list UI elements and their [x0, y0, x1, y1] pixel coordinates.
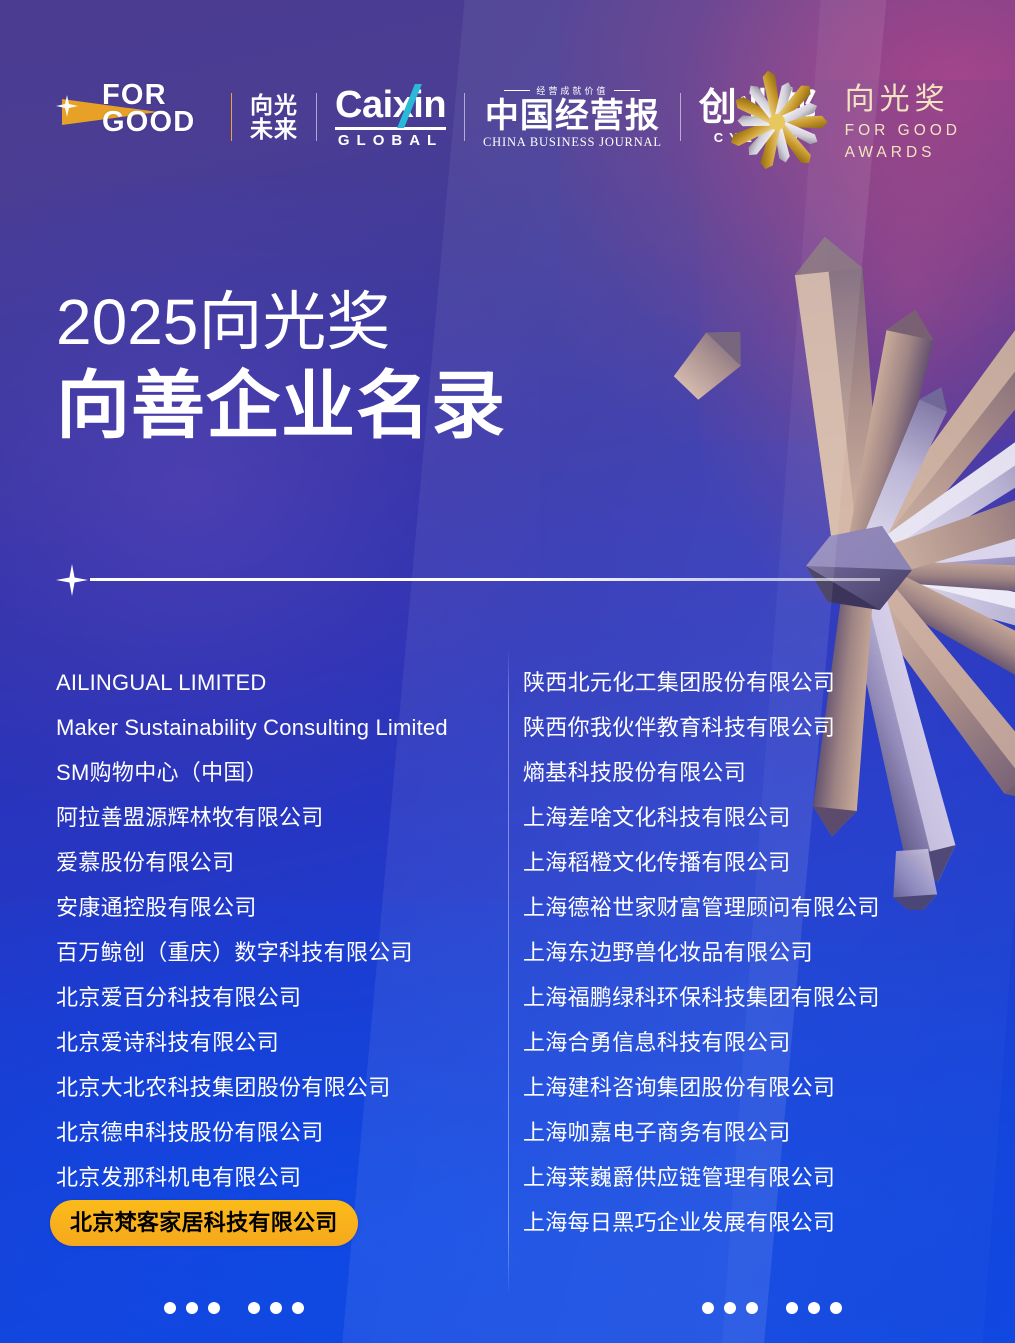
list-item[interactable]: SM购物中心（中国） — [56, 750, 507, 795]
dot-icon — [248, 1302, 260, 1314]
list-item[interactable]: Maker Sustainability Consulting Limited — [56, 705, 507, 750]
list-item[interactable]: 北京爱百分科技有限公司 — [56, 975, 507, 1020]
for-good-line1: FOR — [102, 82, 213, 109]
list-item[interactable]: 百万鲸创（重庆）数字科技有限公司 — [56, 930, 507, 975]
dot-icon — [292, 1302, 304, 1314]
dot-icon — [808, 1302, 820, 1314]
company-name: 上海差啥文化科技有限公司 — [523, 795, 791, 840]
company-name: 上海合勇信息科技有限公司 — [523, 1020, 791, 1065]
company-name: 上海稻橙文化传播有限公司 — [523, 840, 791, 885]
for-good-line2: GOOD — [102, 109, 213, 136]
award-mark: 向光奖 FOR GOOD AWARDS — [723, 68, 961, 176]
cbj-subtitle: CHINA BUSINESS JOURNAL — [483, 135, 662, 150]
company-name: 百万鲸创（重庆）数字科技有限公司 — [56, 930, 413, 975]
company-name: 爱慕股份有限公司 — [56, 840, 234, 885]
award-mark-text: 向光奖 FOR GOOD AWARDS — [845, 83, 961, 162]
list-item[interactable]: 上海东边野兽化妆品有限公司 — [523, 930, 1014, 975]
list-item[interactable]: 北京爱诗科技有限公司 — [56, 1020, 507, 1065]
award-mark-en-line1: FOR GOOD — [845, 122, 961, 140]
cbj-dash-right — [614, 90, 640, 91]
for-good-wordmark: FOR GOOD — [58, 79, 213, 135]
list-item[interactable]: 上海咖嘉电子商务有限公司 — [523, 1110, 1014, 1155]
logo-china-business-journal: 经营成就价值 中国经营报 CHINA BUSINESS JOURNAL — [483, 84, 662, 150]
caixin-text: Caixin — [335, 84, 446, 126]
dot-icon — [270, 1302, 282, 1314]
company-name: 安康通控股有限公司 — [56, 885, 257, 930]
company-lists: AILINGUAL LIMITEDMaker Sustainability Co… — [0, 660, 1015, 1245]
company-name: 上海每日黑巧企业发展有限公司 — [523, 1200, 835, 1245]
dot-icon — [164, 1302, 176, 1314]
page-title-line2: 向善企业名录 — [56, 365, 506, 446]
logo-separator-3 — [680, 93, 681, 141]
list-item[interactable]: 北京德申科技股份有限公司 — [56, 1110, 507, 1155]
company-name-highlighted: 北京梵客家居科技有限公司 — [50, 1200, 358, 1246]
company-name: 陕西你我伙伴教育科技有限公司 — [523, 705, 835, 750]
list-item[interactable]: 陕西你我伙伴教育科技有限公司 — [523, 705, 1014, 750]
company-list-right: 陕西北元化工集团股份有限公司陕西你我伙伴教育科技有限公司熵基科技股份有限公司上海… — [507, 660, 1014, 1245]
company-name: 熵基科技股份有限公司 — [523, 750, 746, 795]
company-name: 阿拉善盟源辉林牧有限公司 — [56, 795, 324, 840]
logo-for-good: FOR GOOD — [58, 79, 213, 155]
list-item[interactable]: 上海稻橙文化传播有限公司 — [523, 840, 1014, 885]
list-item[interactable]: 阿拉善盟源辉林牧有限公司 — [56, 795, 507, 840]
company-name: 上海建科咨询集团股份有限公司 — [523, 1065, 835, 1110]
list-item[interactable]: 上海建科咨询集团股份有限公司 — [523, 1065, 1014, 1110]
xiangguang-line2: 未来 — [250, 117, 298, 141]
list-item[interactable]: 熵基科技股份有限公司 — [523, 750, 1014, 795]
dot-group — [702, 1302, 758, 1314]
logo-separator-2 — [464, 93, 465, 141]
cbj-tagline-row: 经营成就价值 — [483, 84, 662, 97]
title-divider — [56, 562, 880, 596]
company-name: 上海东边野兽化妆品有限公司 — [523, 930, 813, 975]
list-item[interactable]: 陕西北元化工集团股份有限公司 — [523, 660, 1014, 705]
company-name: 北京爱诗科技有限公司 — [56, 1020, 279, 1065]
dot-icon — [208, 1302, 220, 1314]
list-item[interactable]: 北京梵客家居科技有限公司 — [56, 1200, 507, 1245]
company-name: 上海咖嘉电子商务有限公司 — [523, 1110, 791, 1155]
company-name: SM购物中心（中国） — [56, 750, 268, 795]
award-mark-en-line2: AWARDS — [845, 144, 961, 162]
list-item[interactable]: 上海合勇信息科技有限公司 — [523, 1020, 1014, 1065]
company-name: 北京德申科技股份有限公司 — [56, 1110, 324, 1155]
cbj-wordmark: 中国经营报 — [483, 97, 662, 135]
dot-icon — [186, 1302, 198, 1314]
dot-icon — [724, 1302, 736, 1314]
dot-icon — [746, 1302, 758, 1314]
list-item[interactable]: 安康通控股有限公司 — [56, 885, 507, 930]
list-item[interactable]: 爱慕股份有限公司 — [56, 840, 507, 885]
partner-logo-group: FOR GOOD 向光 未来 Caixin GLOBAL — [58, 79, 819, 155]
four-point-star-icon — [56, 564, 88, 596]
dot-icon — [786, 1302, 798, 1314]
xiangguang-line1: 向光 — [250, 93, 298, 117]
logo-separator-1 — [316, 93, 317, 141]
caixin-wordmark: Caixin — [335, 86, 446, 124]
list-item[interactable]: 北京发那科机电有限公司 — [56, 1155, 507, 1200]
logo-caixin-global: Caixin GLOBAL — [335, 86, 446, 149]
list-item[interactable]: 上海德裕世家财富管理顾问有限公司 — [523, 885, 1014, 930]
dot-group — [164, 1302, 220, 1314]
company-name: AILINGUAL LIMITED — [56, 660, 266, 705]
dot-icon — [702, 1302, 714, 1314]
list-item[interactable]: 北京大北农科技集团股份有限公司 — [56, 1065, 507, 1110]
footer-dots-right — [702, 1302, 842, 1314]
company-name: 上海福鹏绿科环保科技集团有限公司 — [523, 975, 880, 1020]
cbj-tagline: 经营成就价值 — [536, 84, 608, 97]
company-list-left: AILINGUAL LIMITEDMaker Sustainability Co… — [0, 660, 507, 1245]
company-name: 北京发那科机电有限公司 — [56, 1155, 301, 1200]
list-item[interactable]: AILINGUAL LIMITED — [56, 660, 507, 705]
caixin-subtitle: GLOBAL — [335, 132, 446, 149]
company-name: Maker Sustainability Consulting Limited — [56, 705, 448, 750]
page-title: 2025向光奖 向善企业名录 — [56, 288, 506, 447]
company-name: 北京爱百分科技有限公司 — [56, 975, 301, 1020]
caixin-rule — [335, 127, 446, 130]
company-name: 上海莱巍爵供应链管理有限公司 — [523, 1155, 835, 1200]
list-item[interactable]: 上海福鹏绿科环保科技集团有限公司 — [523, 975, 1014, 1020]
dot-group — [248, 1302, 304, 1314]
dot-group — [786, 1302, 842, 1314]
poster-canvas: FOR GOOD 向光 未来 Caixin GLOBAL — [0, 0, 1015, 1343]
dot-icon — [830, 1302, 842, 1314]
divider-line — [90, 578, 880, 581]
company-name: 上海德裕世家财富管理顾问有限公司 — [523, 885, 880, 930]
footer-dots-left — [164, 1302, 304, 1314]
company-name: 陕西北元化工集团股份有限公司 — [523, 660, 835, 705]
list-item[interactable]: 上海莱巍爵供应链管理有限公司 — [523, 1155, 1014, 1200]
cbj-dash-left — [504, 90, 530, 91]
logo-xiangguang-weilai: 向光 未来 — [250, 93, 298, 141]
list-item[interactable]: 上海每日黑巧企业发展有限公司 — [523, 1200, 1014, 1245]
logo-separator-gold — [231, 93, 232, 141]
company-name: 北京大北农科技集团股份有限公司 — [56, 1065, 391, 1110]
list-item[interactable]: 上海差啥文化科技有限公司 — [523, 795, 1014, 840]
starburst-icon — [723, 68, 831, 176]
page-title-line1: 2025向光奖 — [56, 288, 506, 357]
award-mark-cn: 向光奖 — [845, 83, 961, 116]
